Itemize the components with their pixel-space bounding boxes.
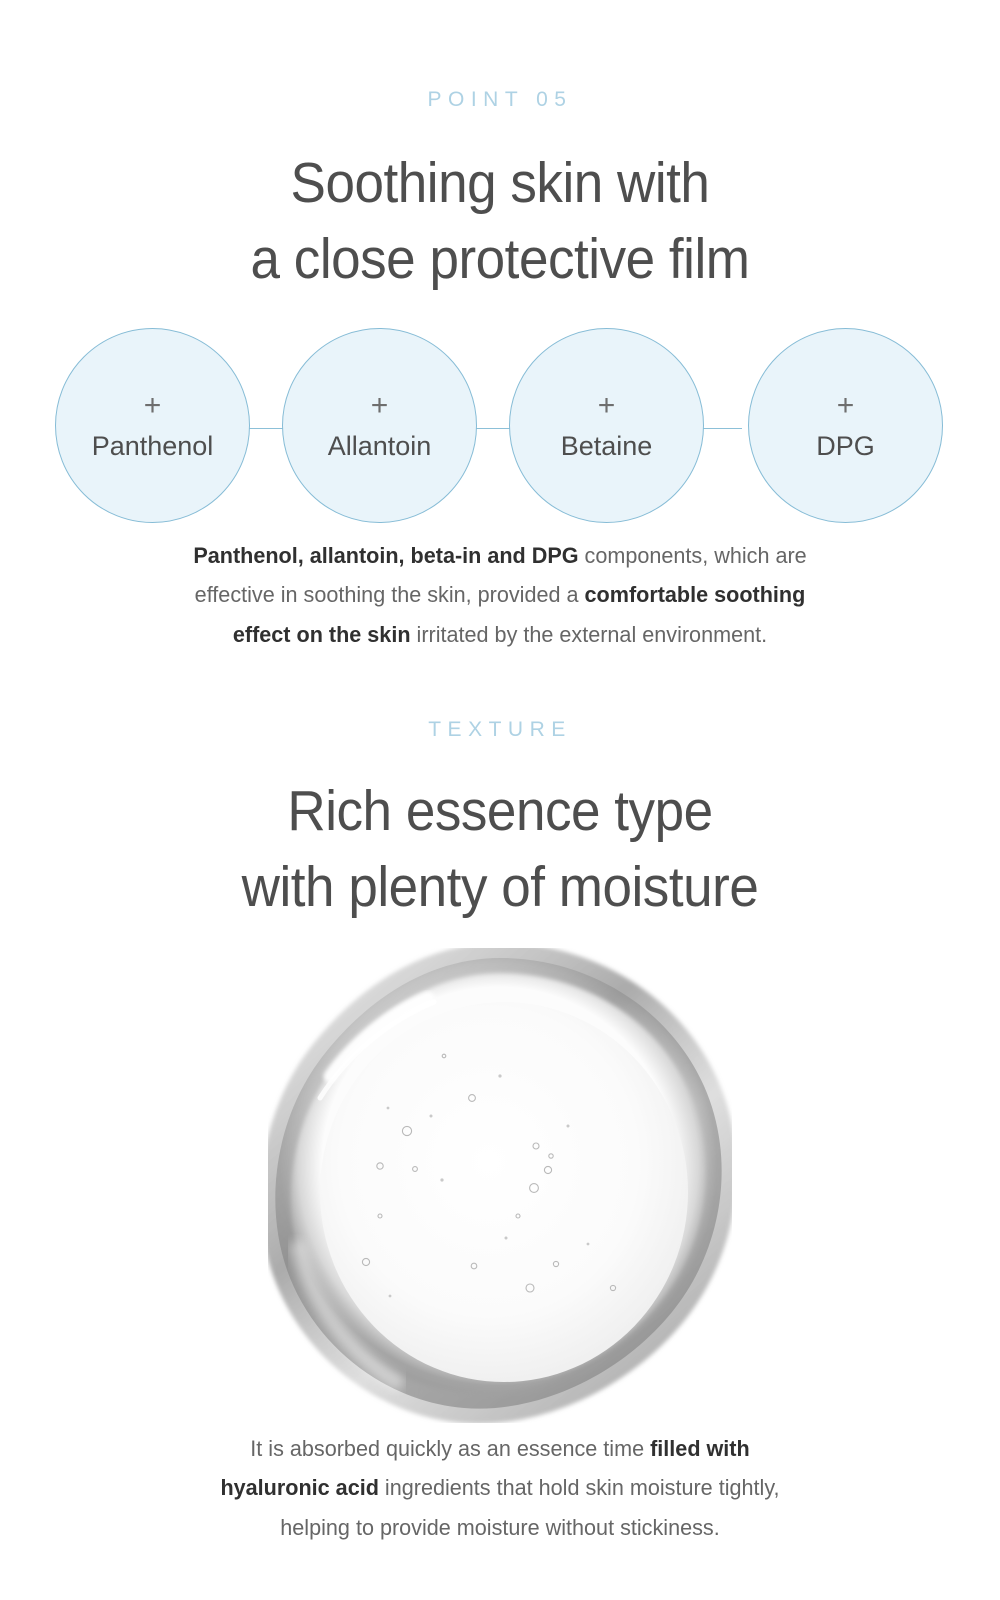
ingredient-circle-dpg[interactable]: + DPG	[748, 328, 943, 523]
paragraph-bold: comfortable soothing	[585, 582, 806, 607]
ingredient-label: Betaine	[561, 433, 653, 460]
ingredient-circle-row: + Panthenol + Allantoin + Betaine + DPG	[0, 318, 1000, 518]
paragraph-text: effective in soothing the skin, provided…	[195, 582, 585, 607]
headline-line-2: with plenty of moisture	[35, 850, 965, 926]
ingredient-circle-betaine[interactable]: + Betaine	[509, 328, 704, 523]
paragraph-line: effect on the skin irritated by the exte…	[20, 615, 980, 655]
ingredient-circle-allantoin[interactable]: + Allantoin	[282, 328, 477, 523]
point-05-eyebrow: POINT 05	[0, 88, 1000, 112]
circle-connector-3	[700, 428, 742, 429]
paragraph-line: effective in soothing the skin, provided…	[20, 575, 980, 615]
ingredient-circle-panthenol[interactable]: + Panthenol	[55, 328, 250, 523]
plus-icon: +	[371, 391, 389, 421]
paragraph-line: hyaluronic acid ingredients that hold sk…	[20, 1468, 980, 1508]
paragraph-bold: effect on the skin	[233, 622, 411, 647]
paragraph-line: It is absorbed quickly as an essence tim…	[20, 1429, 980, 1469]
headline-line-2: a close protective film	[35, 222, 965, 298]
paragraph-text: It is absorbed quickly as an essence tim…	[250, 1436, 650, 1461]
point-05-section: POINT 05 Soothing skin with a close prot…	[0, 0, 1000, 654]
paragraph-bold: Panthenol, allantoin, beta-in and DPG	[193, 543, 578, 568]
ingredient-label: Panthenol	[92, 433, 214, 460]
texture-eyebrow: TEXTURE	[0, 718, 1000, 742]
paragraph-bold: hyaluronic acid	[220, 1475, 378, 1500]
paragraph-text: components, which are	[579, 543, 807, 568]
plus-icon: +	[144, 391, 162, 421]
droplet-core	[320, 1002, 688, 1382]
headline-line-1: Soothing skin with	[35, 146, 965, 222]
gel-droplet-image	[268, 948, 732, 1423]
texture-image-stage	[0, 948, 1000, 1423]
point-05-paragraph: Panthenol, allantoin, beta-in and DPG co…	[20, 536, 980, 655]
plus-icon: +	[837, 391, 855, 421]
texture-headline: Rich essence type with plenty of moistur…	[35, 774, 965, 926]
paragraph-text: irritated by the external environment.	[411, 622, 768, 647]
paragraph-line: helping to provide moisture without stic…	[20, 1508, 980, 1548]
paragraph-line: Panthenol, allantoin, beta-in and DPG co…	[20, 536, 980, 576]
headline-line-1: Rich essence type	[35, 774, 965, 850]
texture-section: TEXTURE Rich essence type with plenty of…	[0, 700, 1000, 1547]
ingredient-label: DPG	[816, 433, 875, 460]
paragraph-bold: filled with	[650, 1436, 750, 1461]
texture-paragraph: It is absorbed quickly as an essence tim…	[20, 1429, 980, 1548]
ingredient-label: Allantoin	[328, 433, 432, 460]
paragraph-text: helping to provide moisture without stic…	[280, 1515, 719, 1540]
paragraph-text: ingredients that hold skin moisture tigh…	[379, 1475, 780, 1500]
plus-icon: +	[598, 391, 616, 421]
point-05-headline: Soothing skin with a close protective fi…	[35, 146, 965, 298]
